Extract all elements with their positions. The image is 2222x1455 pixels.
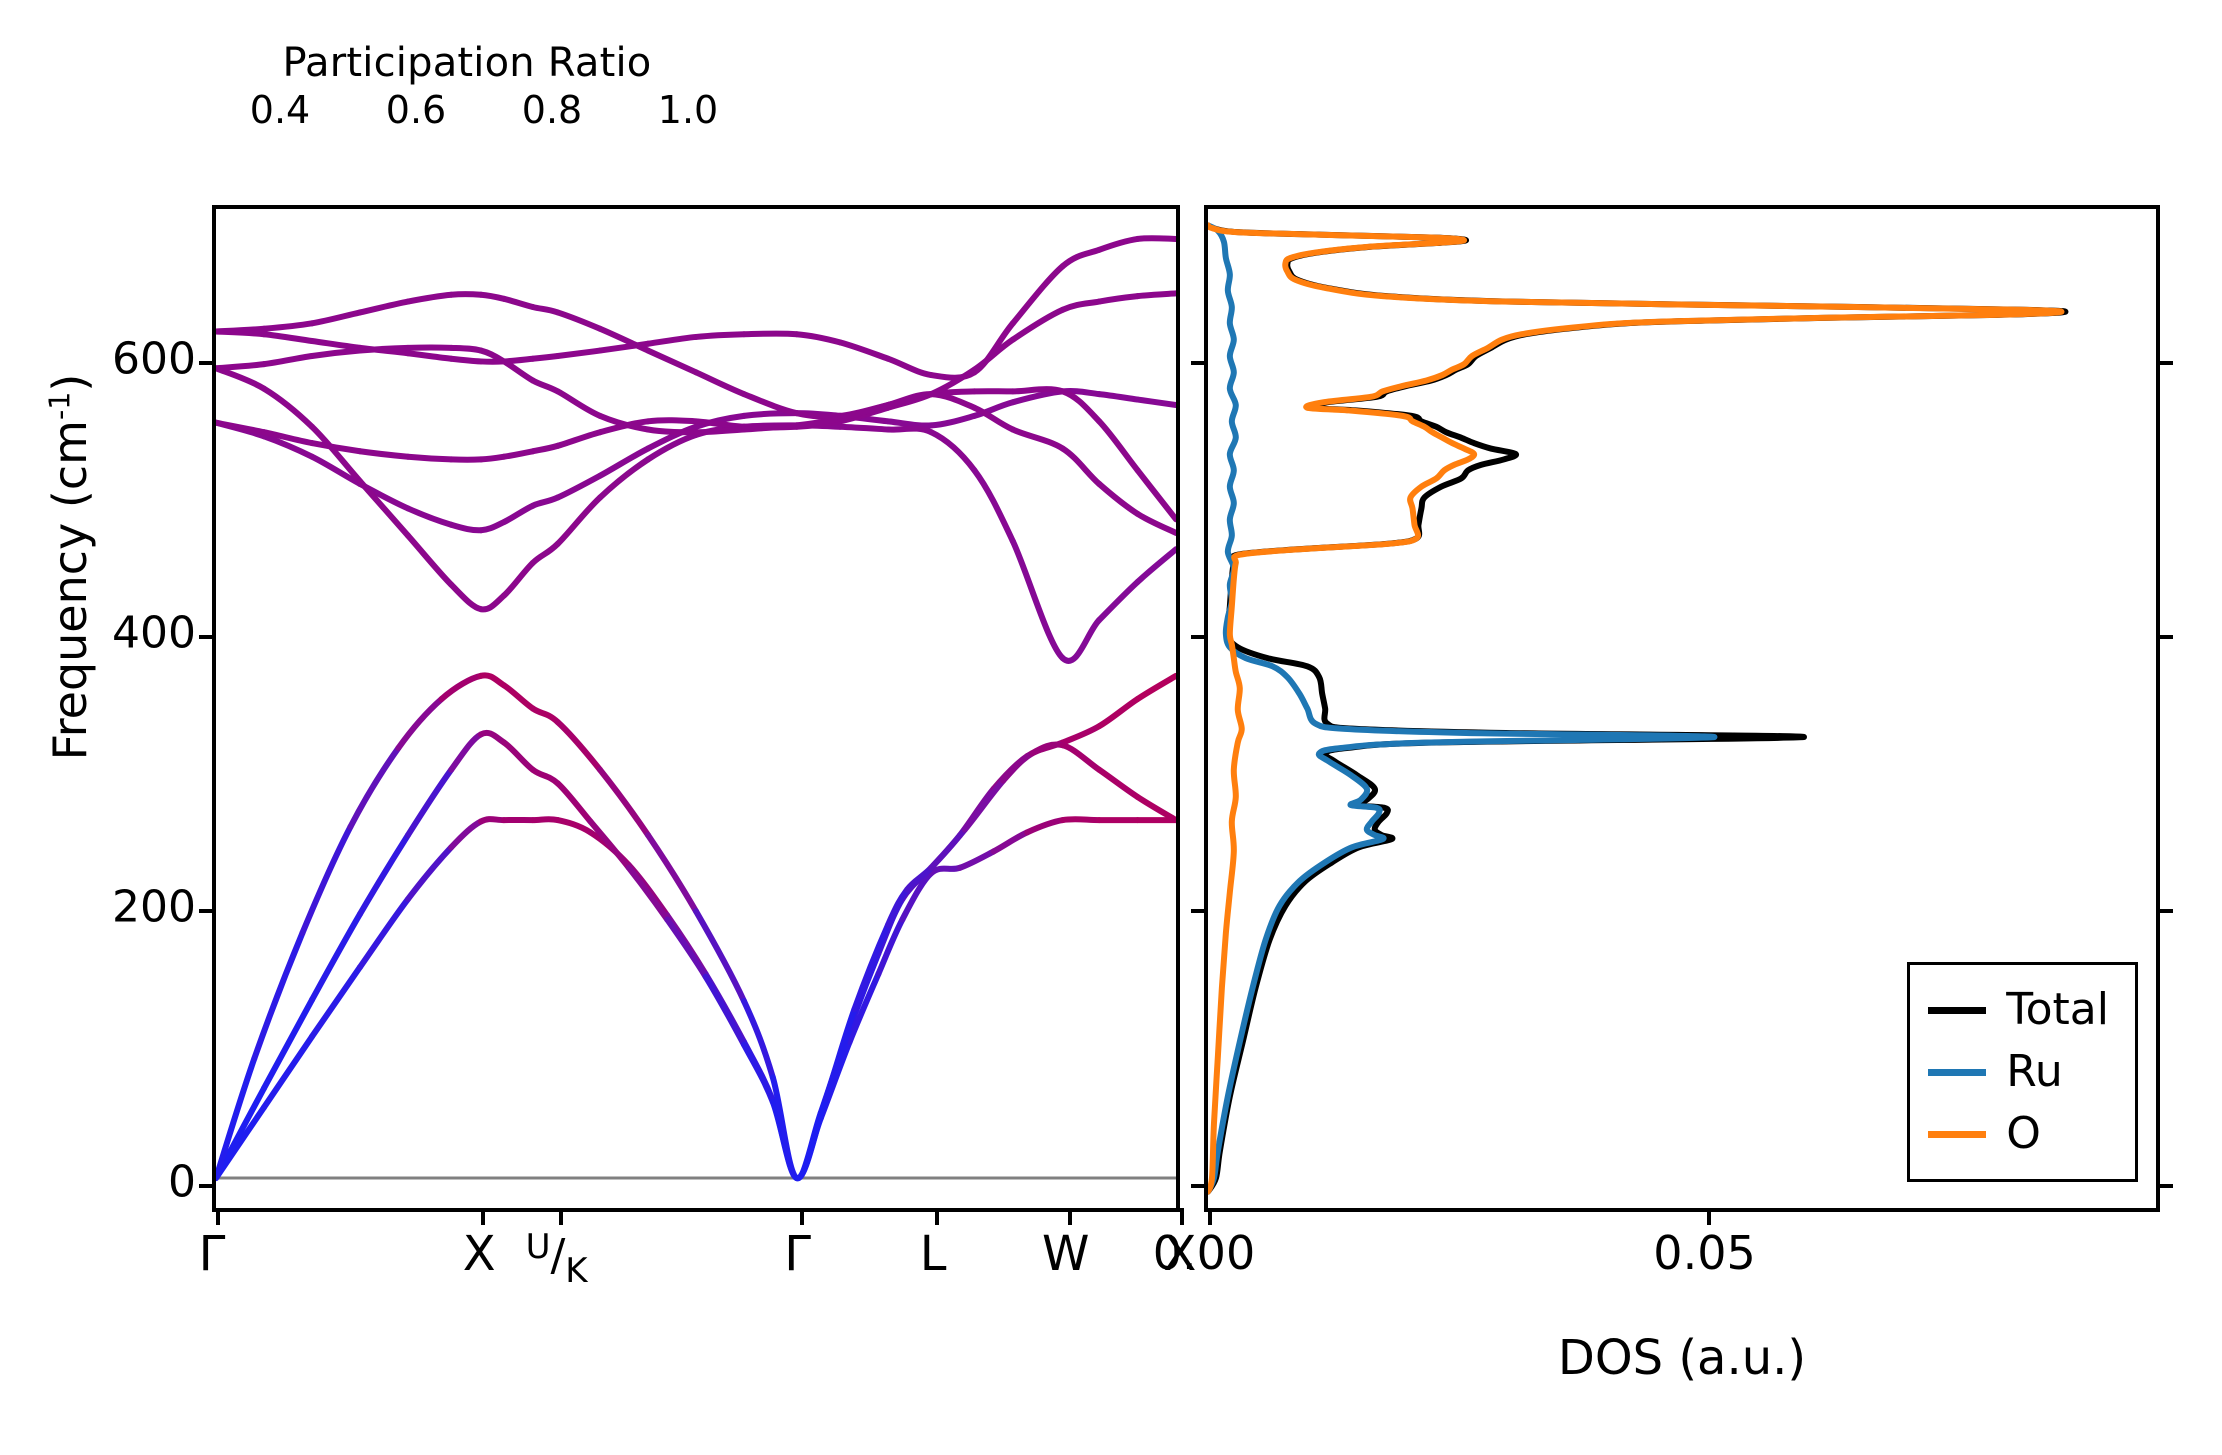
dos-y-tick-mark [2156,635,2173,639]
band-segment [600,770,648,835]
legend-swatch-total [1928,1007,1986,1014]
band-structure-plot [216,209,1176,1208]
band-segment [696,334,744,337]
band-segment [360,481,408,535]
band-segment [264,356,312,364]
band-segment [408,536,451,585]
legend-item-ru[interactable]: Ru [1928,1041,2109,1103]
band-segment [1027,820,1063,832]
u-over-k-fraction: U/K [526,1230,588,1281]
band-segment [1099,296,1137,301]
band-segment [773,1077,797,1178]
band-segment [264,334,312,341]
fraction-slash: / [550,1230,565,1281]
dos-x-tick-label-0-05: 0.05 [1653,1226,1755,1280]
band-segment [481,675,504,685]
band-segment [1138,470,1176,519]
band-segment [264,389,312,427]
band-segment [1099,421,1137,470]
band-segment [533,307,558,312]
legend-label-ru: Ru [2006,1050,2062,1094]
x-tick-label-0: Γ [199,1226,226,1282]
y-tick-label-200: 200 [112,882,196,933]
band-segment [302,827,350,933]
band-segment [312,312,360,323]
colorbar-title: Participation Ratio [212,40,722,86]
band-x-tick-labels: ΓXU/KΓLWX [212,1226,1180,1316]
band-segment [533,446,558,451]
dos-y-tick-mark [1191,635,1208,639]
phonon-band [216,675,1176,1178]
band-segment [533,709,558,723]
band-segment [533,819,558,820]
band-segment [481,819,504,821]
band-segment [648,351,696,373]
band-segment [216,364,264,368]
band-segment [360,899,408,967]
band-segment [312,341,360,348]
legend-item-o[interactable]: O [1928,1103,2109,1165]
band-segment [797,334,840,342]
band-segment [558,391,600,416]
x-tick-mark [800,1208,804,1225]
band-segment [504,299,533,307]
band-segment [408,295,451,302]
x-tick-mark [935,1208,939,1225]
band-segment [797,413,840,416]
y-tick-mark [199,361,216,365]
band-segment [1138,238,1176,239]
phonon-dos-panel: TotalRuO [1204,205,2160,1212]
band-segment [504,361,533,380]
band-segment [888,359,931,375]
band-segment [558,722,600,770]
dos-y-tick-mark [2156,909,2173,913]
band-segment [504,685,533,708]
band-segment [1138,293,1176,296]
x-tick-mark [1068,1208,1072,1225]
band-segment [974,340,1012,370]
legend-label-o: O [2006,1112,2041,1156]
band-segment [408,457,451,460]
band-segment [744,394,797,413]
band-segment [451,585,481,609]
band-segment [312,967,360,1036]
legend-item-total[interactable]: Total [1928,979,2109,1041]
phonon-band [216,819,1176,1178]
band-segment [931,432,974,470]
band-segment [648,420,696,421]
band-segment [264,323,312,328]
band-segment [1138,797,1176,820]
band-segment [1063,620,1099,661]
colorbar-tick-labels: 0.40.60.81.0 [212,88,722,134]
band-segment [504,563,533,596]
x-tick-mark [1180,1208,1184,1225]
band-segment [1099,699,1137,726]
y-tick-mark [199,1184,216,1188]
band-segment [504,506,533,522]
band-segment [481,596,504,610]
band-segment [451,359,481,362]
band-segment [648,337,696,344]
band-segment [216,368,264,388]
band-segment [974,470,1012,541]
band-segment [451,821,481,847]
band-segment [744,333,797,334]
fraction-numerator: U [526,1227,551,1267]
band-segment [408,847,451,899]
band-segment [931,830,965,868]
dos-x-axis-title: DOS (a.u.) [1204,1330,2160,1386]
dos-y-tick-mark [1191,909,1208,913]
dos-y-tick-mark [2156,1184,2173,1188]
band-segment [629,868,667,920]
band-segment [888,421,931,425]
band-segment [1063,302,1099,310]
band-segment [558,820,591,832]
dos-y-tick-mark [1191,1184,1208,1188]
band-segment [1099,394,1137,399]
phonon-band [216,238,1176,378]
band-segment [558,783,591,821]
band-segment [451,525,481,530]
x-tick-mark [216,1208,220,1225]
phonon-band [216,368,1176,661]
band-segment [408,508,451,524]
band-segment [797,1099,826,1178]
band-segment [558,498,600,544]
x-tick-mark [559,1208,563,1225]
dos-x-tick-mark [1707,1208,1711,1225]
y-axis-title-exponent: -1 [44,392,77,420]
band-segment [451,348,481,351]
band-segment [696,911,744,1001]
band-segment [360,451,408,456]
y-tick-mark [199,635,216,639]
band-y-axis-title: Frequency (cm-1) [43,217,97,917]
colorbar-tick-label-0-6: 0.6 [386,88,446,132]
band-segment [1099,484,1137,514]
band-segment [1063,449,1099,484]
band-segment [312,443,360,451]
band-segment [1138,676,1176,699]
band-segment [451,734,481,769]
band-segment [533,544,558,563]
band-segment [350,748,398,827]
y-axis-title-tail: ) [43,374,97,392]
band-segment [931,394,974,408]
band-segment [481,733,504,743]
band-segment [1099,239,1137,250]
dos-x-tick-label-0-00: 0.00 [1153,1226,1255,1280]
legend-swatch-ru [1928,1069,1986,1076]
x-tick-label-5: W [1042,1226,1089,1282]
band-segment [826,1009,855,1099]
x-tick-label-3: Γ [784,1226,811,1282]
band-segment [533,356,558,359]
band-segment [558,432,600,446]
band-segment [360,835,408,914]
band-segment [590,821,628,867]
band-segment [960,851,994,867]
band-segment [888,429,931,433]
legend-swatch-o [1928,1131,1986,1138]
band-segment [504,451,533,456]
band-segment [1063,819,1099,820]
y-tick-label-0: 0 [168,1156,196,1207]
band-segment [451,294,481,295]
band-segment [312,914,360,1000]
x-tick-label-4: L [920,1226,947,1282]
y-tick-label-400: 400 [112,608,196,659]
band-segment [994,832,1028,851]
band-segment [840,342,888,358]
band-segment [398,699,441,748]
colorbar-tick-label-0-8: 0.8 [522,88,582,132]
fraction-denominator: K [565,1251,587,1291]
band-segment [533,498,558,506]
band-segment [1138,549,1176,582]
band-segment [696,372,744,394]
band-segment [360,348,408,351]
legend-label-total: Total [2006,988,2109,1032]
band-segment [481,295,504,299]
band-segment [1032,744,1063,753]
band-segment [481,522,504,530]
band-segment [965,781,1003,830]
band-segment [1013,389,1063,391]
band-segment [312,351,360,356]
band-segment [840,427,888,430]
dos-x-tick-labels: 0.000.05 [1204,1226,2160,1296]
band-segment [1099,770,1137,797]
band-y-tick-labels: 0200400600 [0,205,196,1212]
band-segment [1138,400,1176,405]
band-segment [558,312,600,328]
band-segment [931,868,960,873]
band-segment [648,429,696,432]
band-segment [408,353,451,358]
x-tick-label-1: X [463,1226,496,1282]
band-segment [1013,429,1063,448]
band-segment [667,919,705,976]
band-segment [254,933,302,1058]
band-segment [931,416,974,426]
band-segment [696,429,744,432]
band-segment [408,770,451,835]
colorbar-tick-label-1-0: 1.0 [658,88,718,132]
band-segment [744,425,797,429]
x-tick-label-2: U/K [526,1226,588,1282]
band-segment [481,457,504,460]
dos-y-tick-mark [2156,361,2173,365]
x-tick-mark [481,1208,485,1225]
dos-x-tick-mark [1208,1208,1212,1225]
band-segment [216,331,264,334]
y-tick-label-600: 600 [112,333,196,384]
band-segment [1063,250,1099,266]
band-segment [1013,541,1063,658]
band-segment [442,676,481,699]
band-segment [504,743,533,770]
figure-root: Participation Ratio 0.40.60.81.0 0200400… [0,0,2222,1455]
band-segment [1099,582,1137,620]
band-segment [1063,745,1099,770]
dos-y-tick-mark [1191,361,1208,365]
band-segment [533,770,558,784]
band-segment [533,380,558,391]
band-segment [558,476,600,498]
phonon-band [216,391,1176,530]
band-segment [1003,753,1032,780]
colorbar-tick-label-0-4: 0.4 [250,88,310,132]
band-segment [1063,726,1099,742]
dos-legend: TotalRuO [1907,962,2138,1182]
y-axis-title-main: Frequency (cm [43,420,97,760]
phonon-band-structure-panel [212,205,1180,1212]
y-tick-mark [199,909,216,913]
band-segment [558,351,600,356]
band-segment [360,302,408,313]
